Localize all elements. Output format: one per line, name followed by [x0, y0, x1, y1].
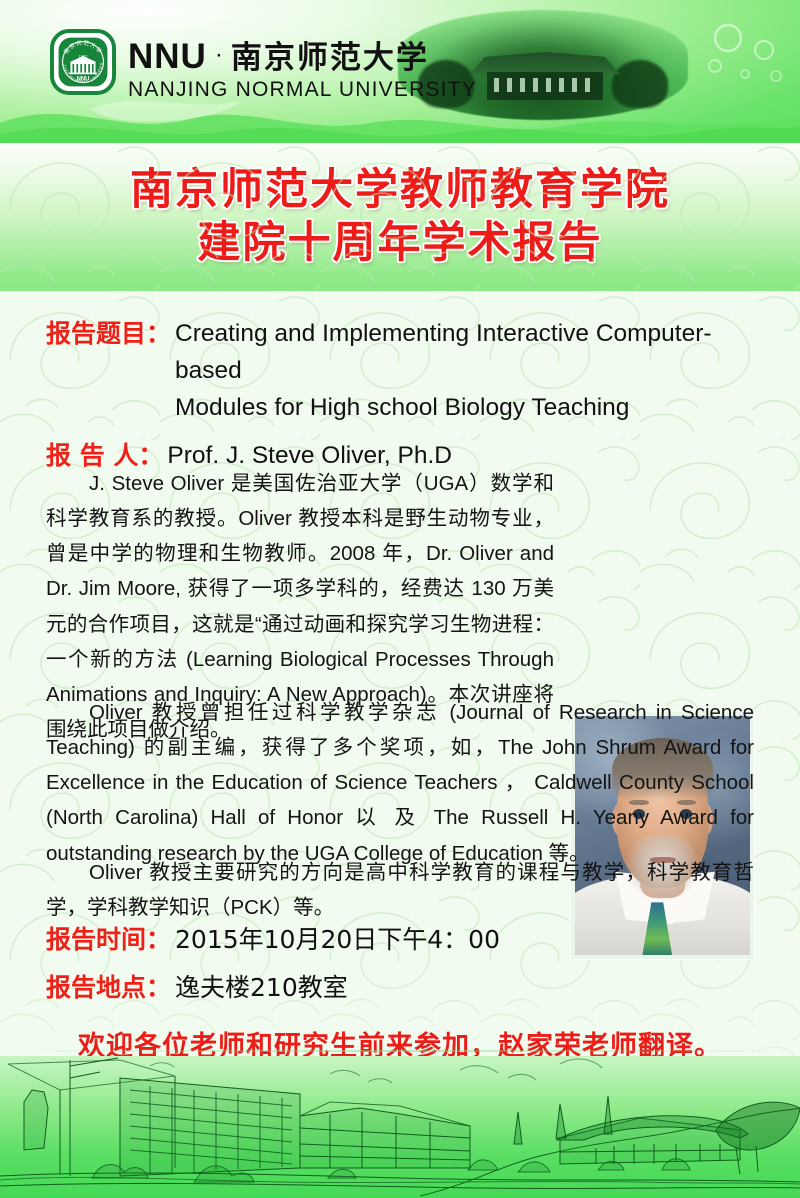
brand-name-english: NANJING NORMAL UNIVERSITY	[128, 78, 477, 102]
poster-footer	[0, 1056, 800, 1198]
topic-value-line-2: Modules for High school Biology Teaching	[175, 389, 754, 426]
poster-main-content: 报告题目： Creating and Implementing Interact…	[0, 291, 800, 1056]
topic-label: 报告题目：	[46, 315, 171, 353]
place-field: 报告地点： 逸夫楼210教室	[0, 969, 800, 1007]
brand-lockup: NNU · 南京师范大学 NANJING NORMAL UNIVERSITY	[128, 32, 477, 102]
nnu-seal-logo-icon: 南京师范大学 NANJING NORMAL UNIVERSITY 1902 NN…	[50, 29, 116, 95]
poster-title-line-1: 南京师范大学教师教育学院	[130, 165, 670, 216]
poster-header: 南京师范大学 NANJING NORMAL UNIVERSITY 1902 NN…	[0, 0, 800, 143]
event-meta-block: 报告时间： 2015年10月20日下午4：00 报告地点： 逸夫楼210教室	[0, 911, 800, 1007]
campus-line-art-illustration	[0, 1056, 800, 1198]
poster-title-band: 南京师范大学教师教育学院 建院十周年学术报告	[0, 143, 800, 291]
topic-field: 报告题目： Creating and Implementing Interact…	[0, 315, 800, 427]
svg-text:NNU: NNU	[77, 76, 90, 82]
brand-name-chinese: 南京师范大学	[231, 32, 429, 77]
bio-paragraph-2-text: Oliver 教授曾担任过科学教学杂志 (Journal of Research…	[46, 701, 754, 865]
poster-title-line-2: 建院十周年学术报告	[198, 218, 603, 269]
bio-paragraph-3-text: Oliver 教授主要研究的方向是高中科学教育的课程与教学，科学教育哲学，学科教…	[46, 861, 754, 919]
poster-root: 南京师范大学 NANJING NORMAL UNIVERSITY 1902 NN…	[0, 0, 800, 1198]
time-field: 报告时间： 2015年10月20日下午4：00	[0, 921, 800, 959]
brand-separator-dot: ·	[215, 43, 223, 67]
brand-abbreviation: NNU	[128, 37, 207, 77]
time-label: 报告时间：	[46, 921, 171, 959]
topic-value-line-1: Creating and Implementing Interactive Co…	[175, 315, 754, 389]
place-label: 报告地点：	[46, 969, 171, 1007]
footer-divider	[0, 1050, 800, 1052]
place-value: 逸夫楼210教室	[171, 969, 348, 1007]
topic-value: Creating and Implementing Interactive Co…	[171, 315, 754, 427]
bio-paragraph-2: Oliver 教授曾担任过科学教学杂志 (Journal of Research…	[46, 695, 754, 871]
bubble-circles-decoration	[698, 22, 788, 92]
time-value: 2015年10月20日下午4：00	[171, 921, 500, 959]
